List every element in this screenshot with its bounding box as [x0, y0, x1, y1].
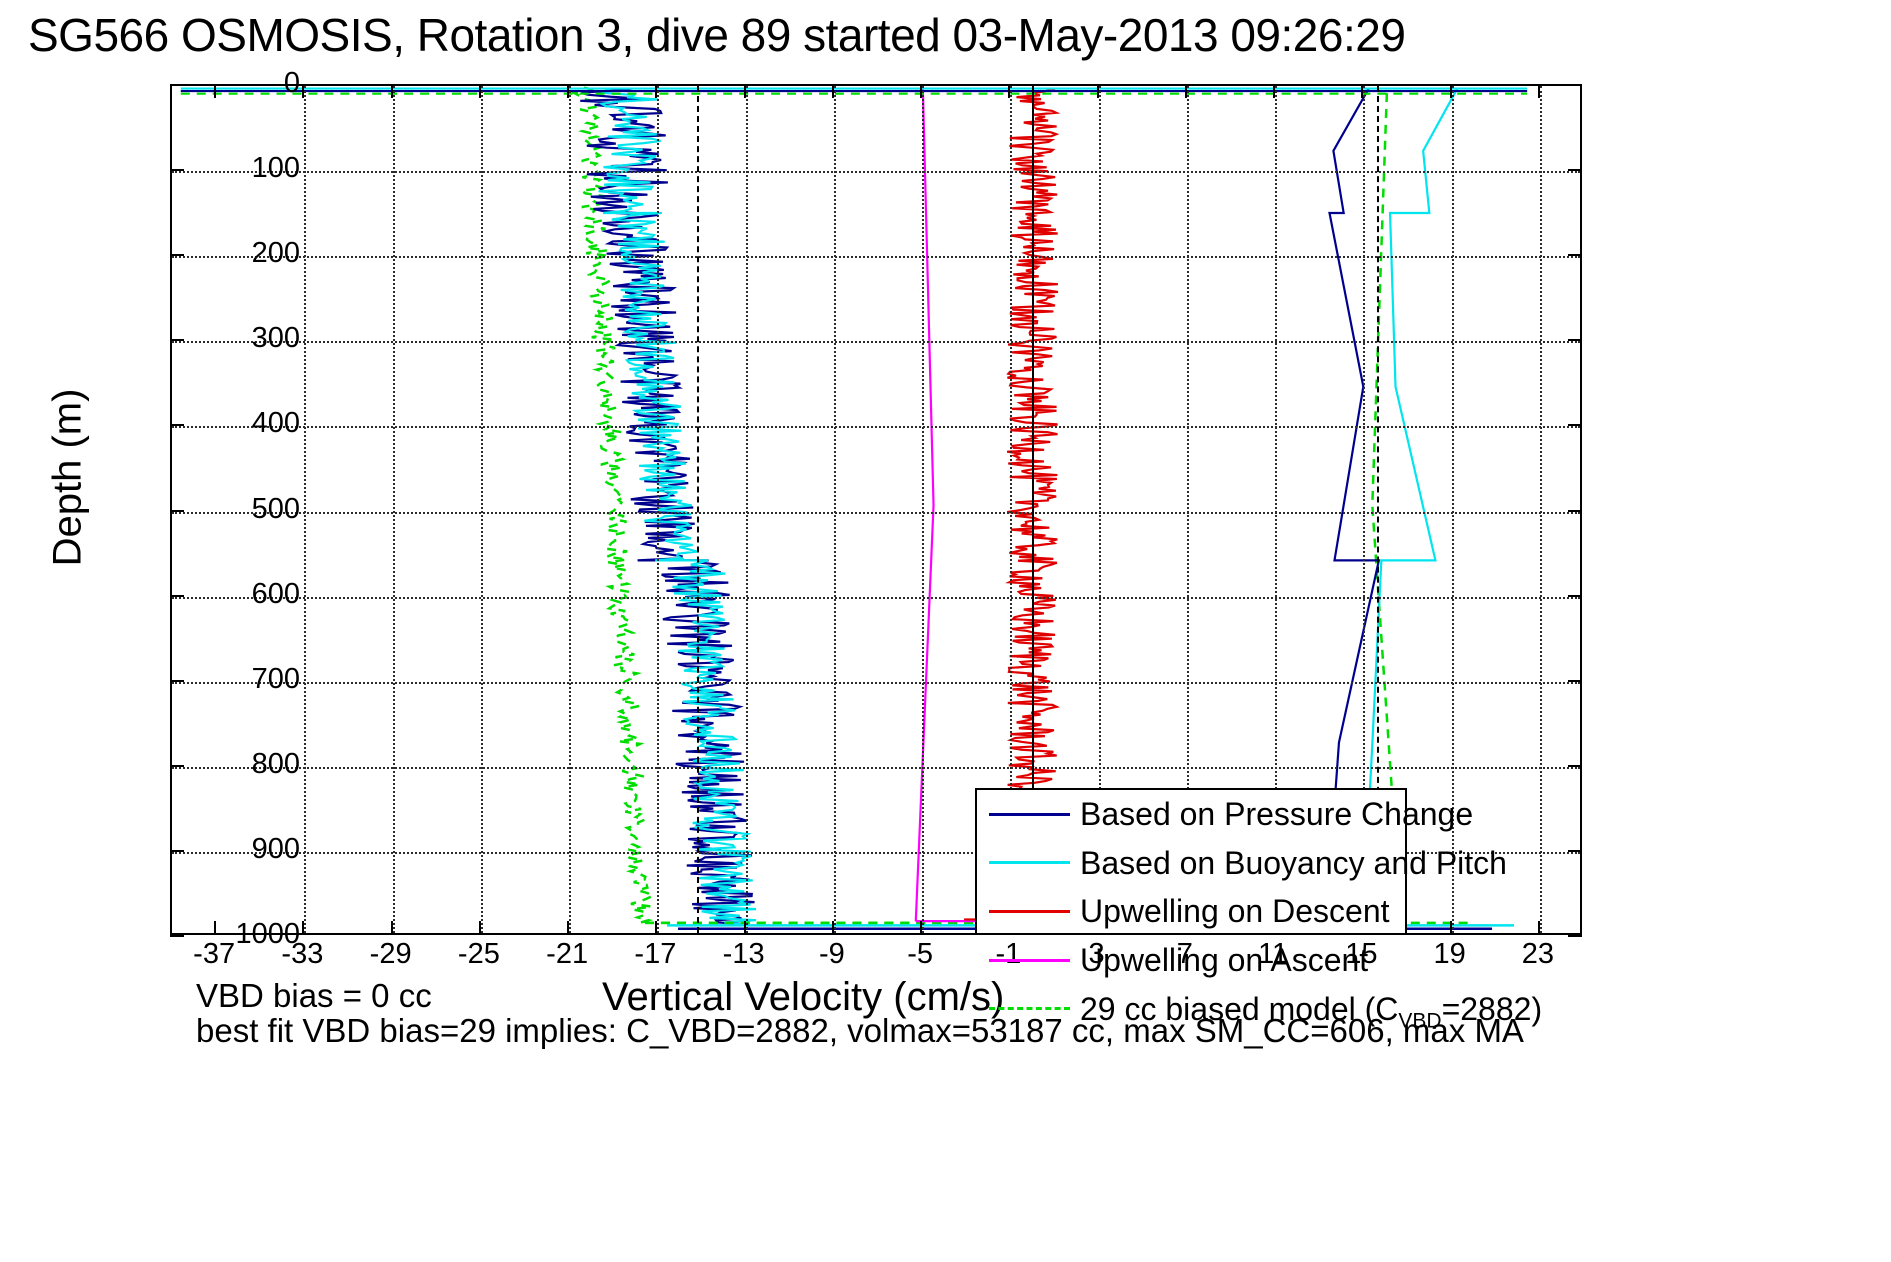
legend-color-swatch	[989, 959, 1070, 962]
x-axis-tick-mark	[1273, 84, 1275, 98]
legend-item[interactable]: Upwelling on Ascent	[977, 936, 1405, 985]
y-axis-tick-mark	[170, 595, 184, 597]
x-axis-tick-mark	[1450, 84, 1452, 98]
y-axis-tick-mark	[170, 935, 184, 937]
x-axis-tick-mark	[302, 84, 304, 98]
grid-line-horizontal	[172, 256, 1580, 258]
legend-item-label: Upwelling on Ascent	[1080, 944, 1368, 976]
grid-line-horizontal	[172, 171, 1580, 173]
grid-line-vertical	[569, 86, 571, 933]
trace-upwelling-ascent	[916, 89, 934, 921]
y-axis-tick-mark	[1568, 169, 1582, 171]
legend-item[interactable]: Based on Pressure Change	[977, 790, 1405, 839]
grid-line-vertical	[834, 86, 836, 933]
x-axis-tick-mark	[567, 921, 569, 935]
y-axis-tick-mark	[1568, 765, 1582, 767]
grid-line-vertical	[481, 86, 483, 933]
x-axis-tick-mark	[1097, 84, 1099, 98]
y-axis-tick-mark	[170, 424, 184, 426]
y-axis-tick-mark	[1568, 339, 1582, 341]
legend-item[interactable]: 29 cc biased model (CVBD=2882)	[977, 984, 1405, 1033]
legend-color-swatch	[989, 813, 1070, 816]
x-axis-tick-mark	[391, 84, 393, 98]
y-axis-tick-mark	[170, 850, 184, 852]
reference-line	[697, 86, 699, 933]
grid-line-vertical	[1540, 86, 1542, 933]
y-axis-tick-mark	[170, 169, 184, 171]
legend-subscript: VBD	[1398, 1009, 1441, 1032]
legend-color-swatch	[989, 910, 1070, 913]
x-axis-tick-mark	[567, 84, 569, 98]
y-axis-tick-mark	[170, 84, 184, 86]
x-axis-tick-mark	[1538, 84, 1540, 98]
y-axis-tick-mark	[1568, 510, 1582, 512]
legend-item-label: Based on Buoyancy and Pitch	[1080, 847, 1507, 879]
legend: Based on Pressure ChangeBased on Buoyanc…	[975, 788, 1407, 935]
legend-color-swatch	[989, 1007, 1070, 1010]
x-axis-tick-mark	[920, 84, 922, 98]
x-axis-tick-mark	[391, 921, 393, 935]
grid-line-vertical	[304, 86, 306, 933]
x-axis-tick-mark	[655, 84, 657, 98]
vbd-bias-note: VBD bias = 0 cc	[196, 977, 432, 1015]
legend-item-label: 29 cc biased model (CVBD=2882)	[1080, 993, 1542, 1025]
y-axis-tick-mark	[1568, 254, 1582, 256]
x-axis-tick-mark	[302, 921, 304, 935]
grid-line-vertical	[746, 86, 748, 933]
x-axis-tick-mark	[655, 921, 657, 935]
y-axis-tick-mark	[170, 254, 184, 256]
y-axis-tick-mark	[1568, 935, 1582, 937]
x-axis-tick-mark	[920, 921, 922, 935]
legend-item[interactable]: Upwelling on Descent	[977, 887, 1405, 936]
x-axis-tick-mark	[1361, 84, 1363, 98]
x-axis-tick-mark	[744, 84, 746, 98]
y-axis-tick-mark	[170, 680, 184, 682]
y-axis-tick-mark	[1568, 84, 1582, 86]
y-axis-tick-mark	[170, 765, 184, 767]
y-axis-tick-mark	[1568, 595, 1582, 597]
trace-buoyancy-pitch-descent	[599, 89, 756, 925]
x-axis-tick-mark	[1538, 921, 1540, 935]
grid-line-horizontal	[172, 341, 1580, 343]
x-axis-tick-mark	[832, 921, 834, 935]
grid-line-vertical	[922, 86, 924, 933]
grid-line-horizontal	[172, 767, 1580, 769]
x-axis-tick-mark	[1008, 84, 1010, 98]
grid-line-horizontal	[172, 512, 1580, 514]
y-axis-tick-mark	[170, 510, 184, 512]
legend-item-label: Based on Pressure Change	[1080, 798, 1473, 830]
grid-line-horizontal	[172, 682, 1580, 684]
y-axis-tick-mark	[1568, 850, 1582, 852]
x-axis-tick-mark	[479, 921, 481, 935]
y-axis-label: Depth (m)	[46, 318, 91, 638]
x-axis-tick-mark	[832, 84, 834, 98]
grid-line-horizontal	[172, 426, 1580, 428]
page-title: SG566 OSMOSIS, Rotation 3, dive 89 start…	[28, 6, 1405, 64]
legend-color-swatch	[989, 861, 1070, 864]
y-axis-tick-mark	[1568, 424, 1582, 426]
grid-line-vertical	[657, 86, 659, 933]
x-axis-tick-label: 23	[1478, 940, 1598, 969]
x-axis-tick-mark	[479, 84, 481, 98]
x-axis-tick-mark	[1450, 921, 1452, 935]
grid-line-horizontal	[172, 597, 1580, 599]
x-axis-tick-mark	[1185, 84, 1187, 98]
legend-item[interactable]: Based on Buoyancy and Pitch	[977, 839, 1405, 888]
y-axis-tick-mark	[170, 339, 184, 341]
grid-line-vertical	[393, 86, 395, 933]
x-axis-tick-mark	[744, 921, 746, 935]
y-axis-tick-mark	[1568, 680, 1582, 682]
legend-item-label: Upwelling on Descent	[1080, 895, 1390, 927]
